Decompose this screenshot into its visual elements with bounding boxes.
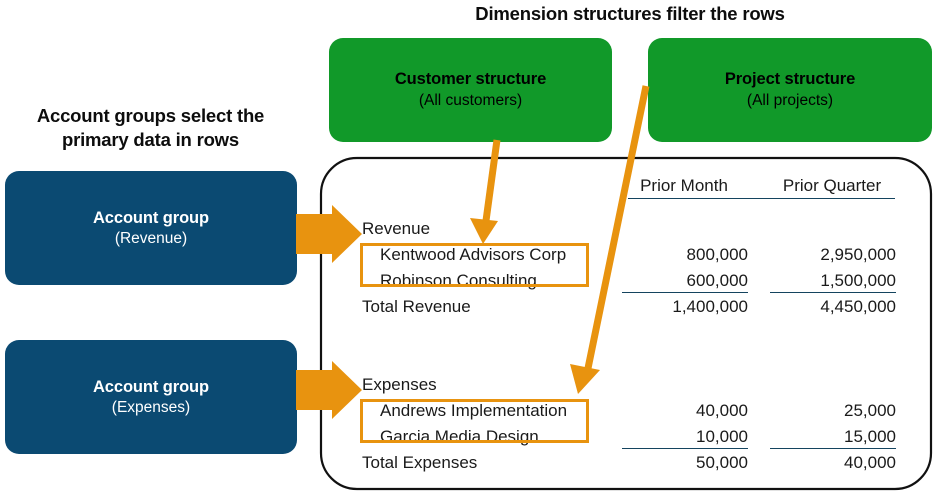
customer-structure-subtitle: (All customers) — [419, 91, 522, 111]
total-label-expenses: Total Expenses — [362, 450, 612, 476]
row-value-kentwood-prior-quarter: 2,950,000 — [768, 242, 896, 268]
expenses-subtotal-rule-prior-quarter — [770, 448, 896, 449]
row-value-robinson-prior-month: 600,000 — [620, 268, 748, 294]
total-value-revenue-prior-month: 1,400,000 — [620, 294, 748, 320]
header-rule — [628, 198, 895, 199]
account-heading: Account groups select the primary data i… — [8, 104, 293, 151]
expenses-subtotal-rule-prior-month — [622, 448, 748, 449]
total-value-expenses-prior-quarter: 40,000 — [768, 450, 896, 476]
project-structure-title: Project structure — [725, 69, 855, 91]
section-header-revenue: Revenue — [362, 216, 612, 242]
account-group-revenue-box[interactable]: Account group (Revenue) — [5, 171, 297, 285]
highlight-box-expenses-detail-rows — [360, 399, 589, 443]
row-value-andrews-prior-quarter: 25,000 — [768, 398, 896, 424]
row-value-robinson-prior-quarter: 1,500,000 — [768, 268, 896, 294]
account-group-expenses-title: Account group — [93, 376, 209, 398]
arrow-revenue-block — [296, 205, 362, 263]
arrow-expenses-block — [296, 361, 362, 419]
total-value-expenses-prior-month: 50,000 — [620, 450, 748, 476]
row-value-garcia-prior-month: 10,000 — [620, 424, 748, 450]
section-header-expenses: Expenses — [362, 372, 612, 398]
account-group-expenses-box[interactable]: Account group (Expenses) — [5, 340, 297, 454]
table-row-total: Total Revenue 1,400,000 4,450,000 — [362, 294, 902, 320]
table-row: Revenue — [362, 216, 902, 242]
project-structure-subtitle: (All projects) — [747, 91, 833, 111]
column-header-prior-quarter: Prior Quarter — [768, 176, 896, 196]
revenue-subtotal-rule-prior-quarter — [770, 292, 896, 293]
revenue-subtotal-rule-prior-month — [622, 292, 748, 293]
column-header-prior-month: Prior Month — [620, 176, 748, 196]
diagram-canvas: Dimension structures filter the rows Acc… — [0, 0, 942, 494]
customer-structure-box[interactable]: Customer structure (All customers) — [329, 38, 612, 142]
row-value-andrews-prior-month: 40,000 — [620, 398, 748, 424]
account-group-revenue-title: Account group — [93, 207, 209, 229]
row-value-garcia-prior-quarter: 15,000 — [768, 424, 896, 450]
total-label-revenue: Total Revenue — [362, 294, 612, 320]
table-row: Expenses — [362, 372, 902, 398]
dimension-heading: Dimension structures filter the rows — [380, 2, 880, 26]
customer-structure-title: Customer structure — [395, 69, 546, 91]
table-row-total: Total Expenses 50,000 40,000 — [362, 450, 902, 476]
account-heading-line1: Account groups select the — [8, 104, 293, 128]
account-group-revenue-subtitle: (Revenue) — [115, 229, 187, 250]
highlight-box-revenue-detail-rows — [360, 243, 589, 287]
account-heading-line2: primary data in rows — [8, 128, 293, 152]
project-structure-box[interactable]: Project structure (All projects) — [648, 38, 932, 142]
account-group-expenses-subtitle: (Expenses) — [112, 398, 190, 419]
total-value-revenue-prior-quarter: 4,450,000 — [768, 294, 896, 320]
row-value-kentwood-prior-month: 800,000 — [620, 242, 748, 268]
